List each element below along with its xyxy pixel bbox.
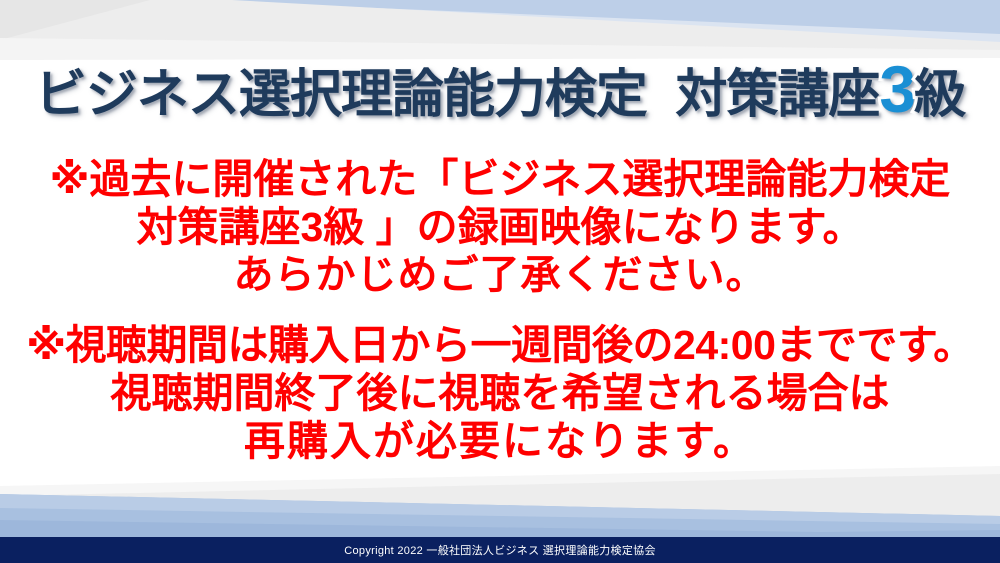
bottom-blue-band [0, 494, 1000, 537]
top-grey-wedge-left [0, 0, 150, 40]
notice-2-line-1: ※視聴期間は購入日から一週間後の24:00までです。 [0, 322, 1000, 370]
footer-copyright: Copyright 2022 一般社団法人ビジネス 選択理論能力検定協会 [0, 542, 1000, 558]
page-title: ビジネス選択理論能力検定 対策講座3級 [0, 56, 1000, 122]
notice-1-line-1: ※過去に開催された「ビジネス選択理論能力検定 [0, 156, 1000, 204]
bottom-grey-band-edge [0, 466, 1000, 496]
title-part-3: 級 [914, 66, 965, 124]
top-blue-band-edge [210, 2, 1000, 44]
title-gap [647, 66, 675, 124]
bottom-grey-band [0, 470, 1000, 520]
title-grade-number: 3 [879, 52, 914, 126]
page-title-text: ビジネス選択理論能力検定 対策講座3級 [35, 56, 965, 122]
title-part-1: ビジネス選択理論能力検定 [35, 66, 647, 124]
notice-1-line-3: あらかじめご了承ください。 [0, 252, 1000, 299]
notice-1-line-2: 対策講座3級 」の録画映像になります。 [0, 204, 1000, 252]
notice-block-viewing-period: ※視聴期間は購入日から一週間後の24:00までです。 視聴期間終了後に視聴を希望… [0, 322, 1000, 466]
notice-block-recording: ※過去に開催された「ビジネス選択理論能力検定 対策講座3級 」の録画映像になりま… [0, 156, 1000, 299]
top-grey-band [0, 0, 1000, 52]
notice-2-line-2: 視聴期間終了後に視聴を希望される場合は [0, 370, 1000, 418]
notice-2-line-3: 再購入が必要になります。 [0, 418, 1000, 466]
title-part-2: 対策講座 [675, 66, 879, 124]
slide-canvas: ビジネス選択理論能力検定 対策講座3級 ※過去に開催された「ビジネス選択理論能力… [0, 0, 1000, 563]
bottom-blue-band-light [0, 494, 1000, 524]
top-blue-band [232, 0, 1000, 36]
bottom-blue-band-dark [0, 520, 1000, 537]
